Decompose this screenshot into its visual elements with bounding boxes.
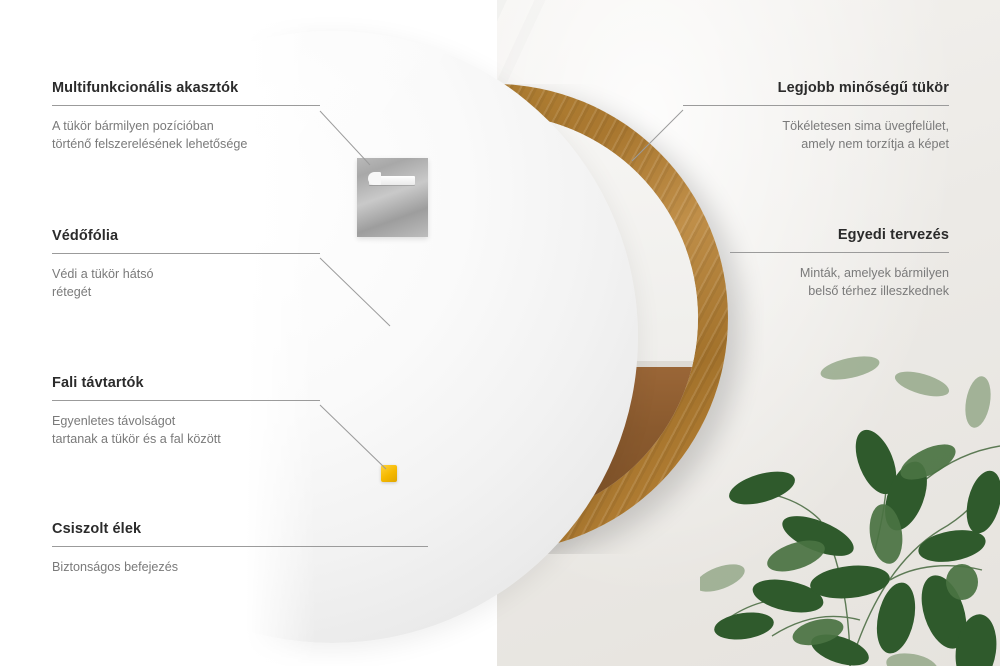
callout-desc: Egyenletes távolságot tartanak a tükör é… <box>52 412 320 449</box>
callout-rule <box>52 253 320 254</box>
yellow-spacer <box>381 465 397 482</box>
hanger-plate <box>357 158 428 237</box>
callout-title: Védőfólia <box>52 228 320 244</box>
callout-title: Multifunkcionális akasztók <box>52 80 320 96</box>
callout-rule <box>52 546 428 547</box>
callout-title: Fali távtartók <box>52 375 320 391</box>
infographic-canvas: Multifunkcionális akasztók A tükör bármi… <box>0 0 1000 666</box>
callout-rule <box>683 105 949 106</box>
callout-desc: Védi a tükör hátsó rétegét <box>52 265 320 302</box>
callout-polished-edges: Csiszolt élek Biztonságos befejezés <box>52 521 428 576</box>
callout-title: Legjobb minőségű tükör <box>683 80 949 96</box>
callout-rule <box>52 400 320 401</box>
callout-hangers: Multifunkcionális akasztók A tükör bármi… <box>52 80 320 154</box>
callout-desc: Biztonságos befejezés <box>52 558 428 576</box>
hanger-keyhole-slot <box>369 176 415 185</box>
callout-rule <box>730 252 949 253</box>
callout-desc: A tükör bármilyen pozícióban történő fel… <box>52 117 320 154</box>
callout-best-quality-mirror: Legjobb minőségű tükör Tökéletesen sima … <box>683 80 949 154</box>
green-leaf-plant <box>700 350 1000 666</box>
callout-desc: Tökéletesen sima üvegfelület, amely nem … <box>683 117 949 154</box>
callout-protective-foil: Védőfólia Védi a tükör hátsó rétegét <box>52 228 320 302</box>
callout-title: Egyedi tervezés <box>730 227 949 243</box>
callout-rule <box>52 105 320 106</box>
callout-title: Csiszolt élek <box>52 521 428 537</box>
callout-desc: Minták, amelyek bármilyen belső térhez i… <box>730 264 949 301</box>
callout-unique-design: Egyedi tervezés Minták, amelyek bármilye… <box>730 227 949 301</box>
callout-wall-spacers: Fali távtartók Egyenletes távolságot tar… <box>52 375 320 449</box>
